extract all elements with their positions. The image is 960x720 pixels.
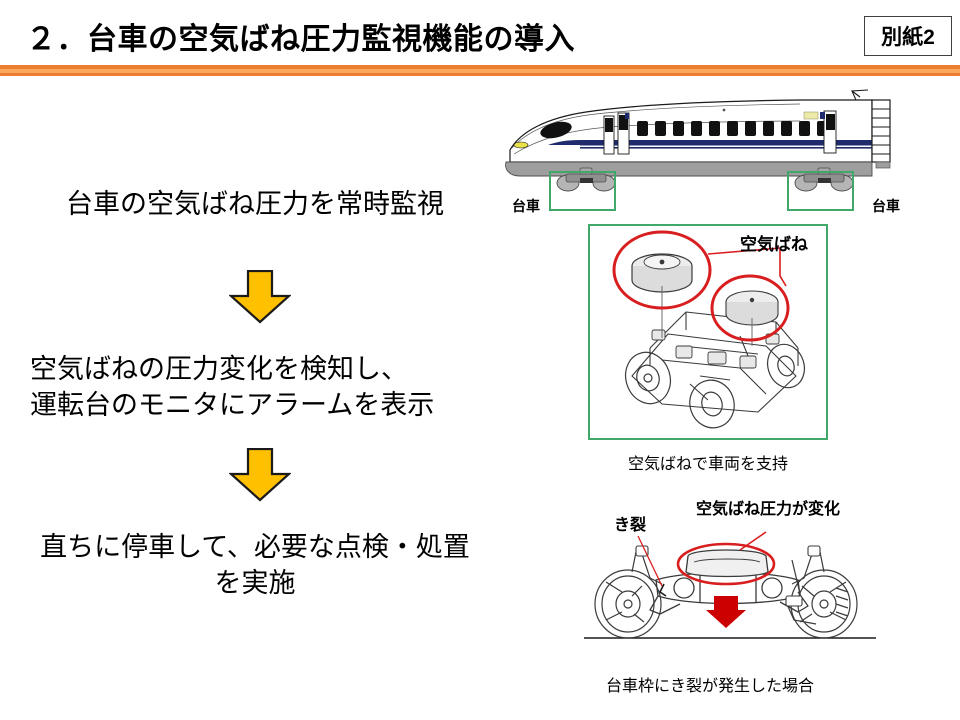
- crack-figure: 空気ばね圧力が変化 き裂: [580, 492, 880, 662]
- downward-load-arrow-icon: [706, 596, 746, 628]
- flow-step-1-line-1: 台車の空気ばね圧力を常時監視: [0, 187, 510, 223]
- flow-step-3: 直ちに停車して、必要な点検・処置 を実施: [0, 530, 510, 601]
- air-spring-label: 空気ばね: [740, 234, 808, 254]
- train-bogie-label-right: 台車: [872, 196, 900, 216]
- flow-step-1: 台車の空気ばね圧力を常時監視: [0, 187, 510, 223]
- slide-header: ２．台車の空気ばね圧力監視機能の導入 別紙2: [0, 0, 960, 80]
- header-divider-highlight: [0, 69, 960, 73]
- figures-column: 台車 台車: [500, 88, 960, 720]
- bogie-diagram-caption: 空気ばねで車両を支持: [588, 450, 828, 474]
- crack-label: き裂: [614, 515, 646, 534]
- air-spring-enlarged: [632, 254, 692, 338]
- bogie-frame-crack-diagram-icon: 空気ばね圧力が変化 き裂: [580, 492, 880, 662]
- process-flow-column: 台車の空気ばね圧力を常時監視 空気ばねの圧力変化を検知し、 運転台のモニタにアラ…: [0, 90, 510, 710]
- flow-step-2-line-1: 空気ばねの圧力変化を検知し、: [30, 352, 510, 388]
- bogie-diagram-box: 空気ばね: [588, 224, 828, 440]
- down-arrow-2-icon: [229, 448, 291, 502]
- page-title: ２．台車の空気ばね圧力監視機能の導入: [26, 14, 575, 58]
- attachment-badge: 別紙2: [864, 16, 952, 56]
- flow-step-2: 空気ばねの圧力変化を検知し、 運転台のモニタにアラームを表示: [0, 352, 510, 423]
- air-spring-front-view: [686, 550, 768, 577]
- slide-root: ２．台車の空気ばね圧力監視機能の導入 別紙2 台車の空気ばね圧力を常時監視 空気…: [0, 0, 960, 720]
- flow-step-2-line-2: 運転台のモニタにアラームを表示: [30, 388, 510, 424]
- down-arrow-1-icon: [229, 270, 291, 324]
- flow-step-3-line-1: 直ちに停車して、必要な点検・処置: [0, 530, 510, 566]
- crack-mark: [660, 584, 666, 596]
- flow-step-3-line-2: を実施: [0, 566, 510, 602]
- train-figure: 台車 台車: [500, 88, 960, 218]
- train-bogie-label-left: 台車: [512, 196, 540, 216]
- crack-figure-caption: 台車枠にき裂が発生した場合: [550, 672, 870, 696]
- pressure-change-label: 空気ばね圧力が変化: [696, 499, 840, 518]
- bogie-air-spring-diagram-icon: 空気ばね: [590, 226, 826, 438]
